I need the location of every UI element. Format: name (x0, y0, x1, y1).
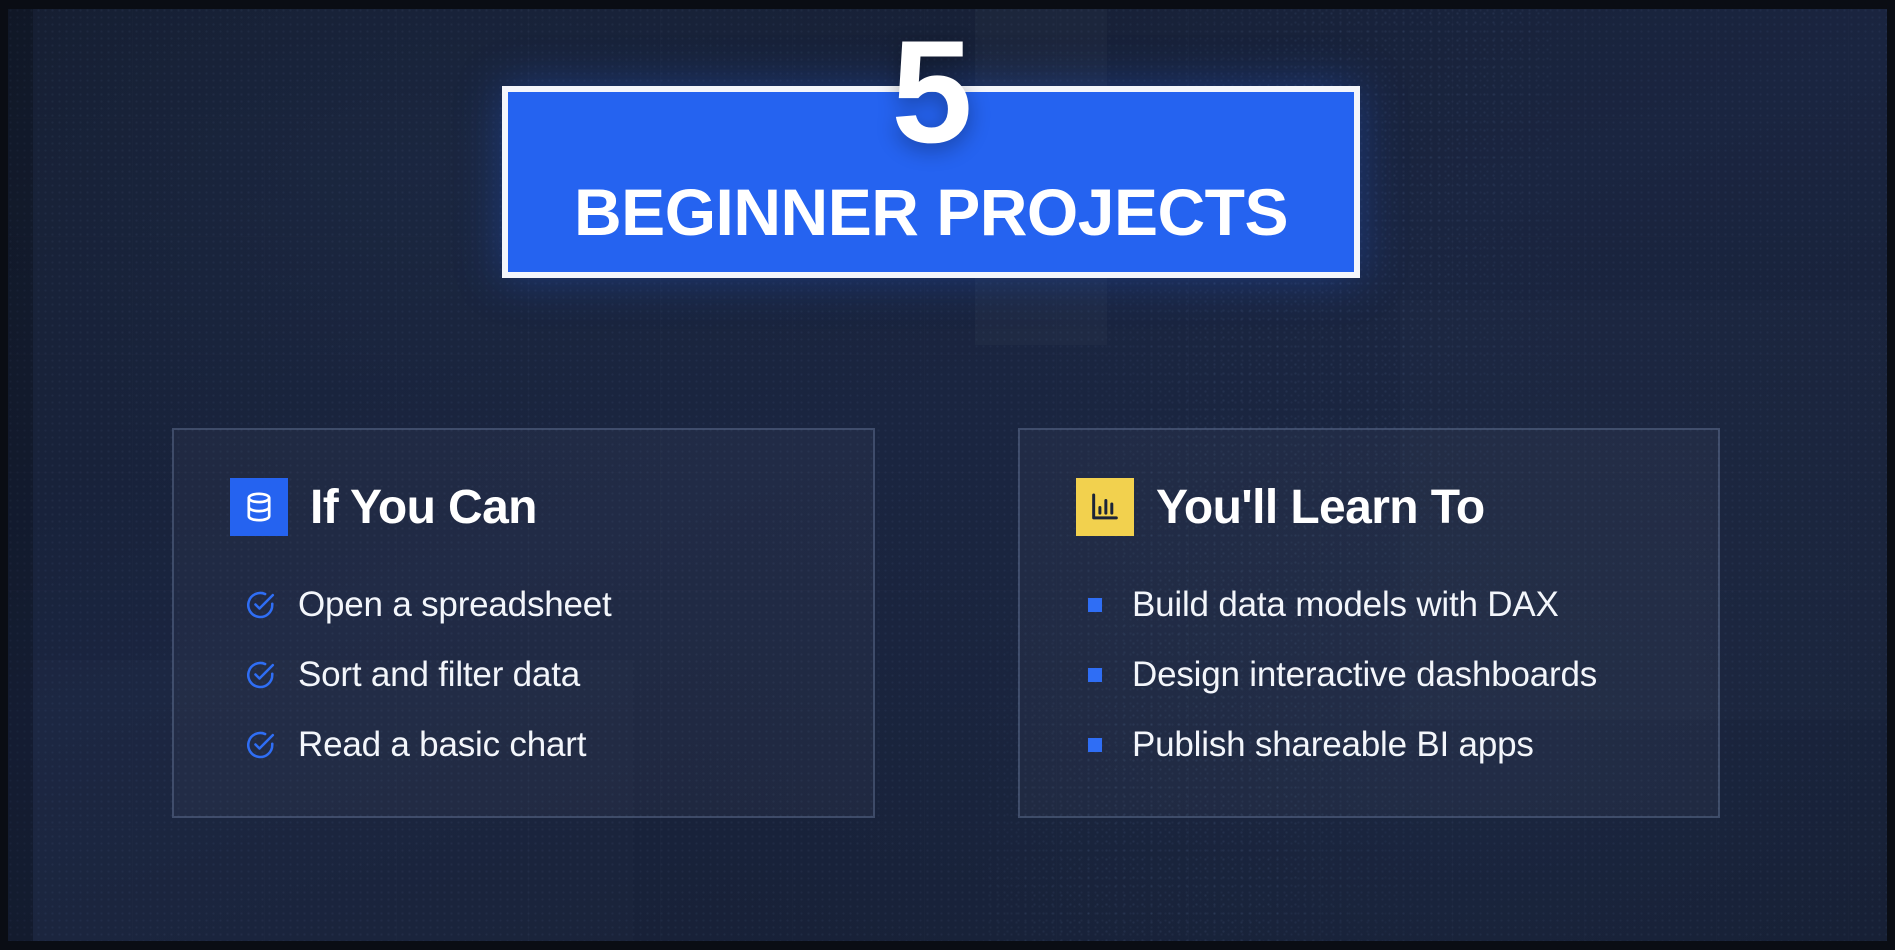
card-title: If You Can (310, 480, 537, 535)
list-item: Sort and filter data (244, 640, 873, 710)
circle-check-icon (244, 659, 276, 691)
card-title: You'll Learn To (1156, 480, 1485, 535)
list-item-label: Publish shareable BI apps (1132, 725, 1534, 765)
list-item: Read a basic chart (244, 710, 873, 780)
list-item-label: Build data models with DAX (1132, 585, 1559, 625)
bar-chart-icon (1076, 478, 1134, 536)
card-list: Open a spreadsheet Sort and filter data (244, 570, 873, 780)
circle-check-icon (244, 589, 276, 621)
title-banner: 5 BEGINNER PROJECTS (502, 86, 1360, 278)
circle-check-icon (244, 729, 276, 761)
square-bullet-icon (1088, 598, 1102, 612)
card-youll-learn-to: You'll Learn To Build data models with D… (1018, 428, 1720, 818)
square-bullet-icon (1088, 668, 1102, 682)
slide-canvas: 5 BEGINNER PROJECTS If You Can (0, 0, 1895, 950)
list-item-label: Design interactive dashboards (1132, 655, 1597, 695)
frame-edge-right (1887, 0, 1895, 950)
frame-edge-left (0, 0, 8, 950)
card-if-you-can: If You Can Open a spreadsheet (172, 428, 875, 818)
list-item-label: Sort and filter data (298, 655, 580, 695)
list-item: Design interactive dashboards (1082, 640, 1718, 710)
card-list: Build data models with DAX Design intera… (1082, 570, 1718, 780)
list-item-label: Read a basic chart (298, 725, 586, 765)
card-header: If You Can (230, 478, 873, 536)
list-item-label: Open a spreadsheet (298, 585, 612, 625)
card-header: You'll Learn To (1076, 478, 1718, 536)
frame-edge-bottom (0, 941, 1895, 950)
banner-title: BEGINNER PROJECTS (502, 174, 1360, 250)
banner-number: 5 (502, 23, 1360, 162)
square-bullet-icon (1088, 738, 1102, 752)
frame-edge-top (0, 0, 1895, 9)
list-item: Publish shareable BI apps (1082, 710, 1718, 780)
list-item: Open a spreadsheet (244, 570, 873, 640)
list-item: Build data models with DAX (1082, 570, 1718, 640)
database-icon (230, 478, 288, 536)
